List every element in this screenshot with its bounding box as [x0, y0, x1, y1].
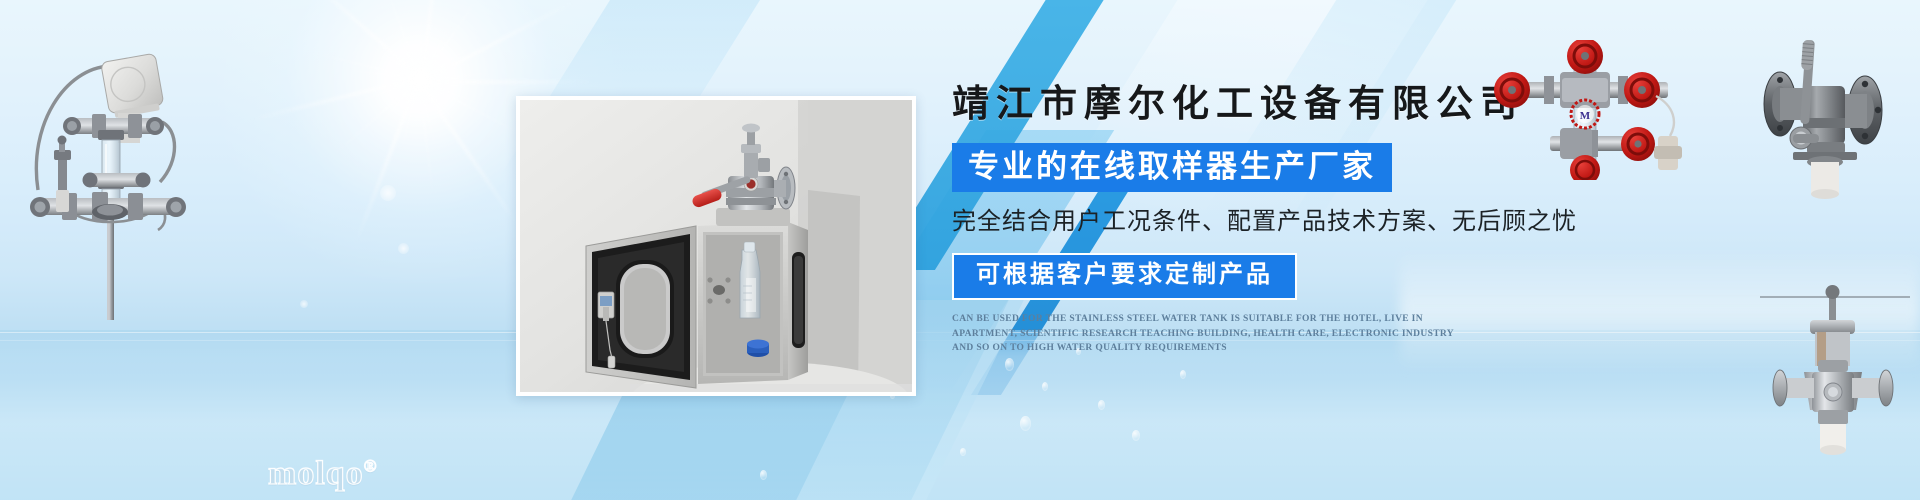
- lens-flare-3: [300, 300, 308, 308]
- handwheel-right: [1624, 72, 1660, 108]
- handwheel-bottom-right: [1621, 127, 1655, 161]
- promotional-banner: 靖江市摩尔化工设备有限公司 专业的在线取样器生产厂家 完全结合用户工况条件、配置…: [0, 0, 1920, 500]
- water-droplet: [1180, 370, 1186, 379]
- right-cross-valve-image: M: [1488, 40, 1688, 180]
- watermark-text: molqo: [268, 455, 364, 492]
- water-droplet: [760, 470, 767, 480]
- center-product-photo: [520, 100, 912, 392]
- sun-ray: [354, 79, 420, 244]
- svg-text:M: M: [1580, 110, 1591, 122]
- water-droplet: [1042, 382, 1048, 391]
- left-product-sampler-image: [10, 30, 210, 320]
- headline-badge: 专业的在线取样器生产厂家: [952, 143, 1392, 193]
- lens-flare-2: [398, 243, 409, 254]
- right-vertical-valve-image: [1760, 280, 1910, 460]
- subline-text: 完全结合用户工况条件、配置产品技术方案、无后顾之忧: [952, 208, 1692, 237]
- water-droplet: [1132, 430, 1140, 441]
- lens-flare-1: [380, 185, 396, 201]
- english-description: CAN BE USED FOR THE STAINLESS STEEL WATE…: [952, 312, 1472, 356]
- water-droplet: [1005, 358, 1014, 371]
- watermark-logo: molqo®: [268, 455, 377, 493]
- sun-ray: [417, 80, 520, 226]
- handwheel-top: [1567, 40, 1603, 74]
- right-lever-valve-image: [1735, 22, 1920, 207]
- cta-badge: 可根据客户要求定制产品: [952, 253, 1297, 300]
- sun-ray: [420, 0, 577, 84]
- registered-mark: ®: [364, 457, 378, 476]
- water-droplet: [960, 448, 966, 456]
- center-product-photo-frame: [516, 96, 916, 396]
- handwheel-left: [1494, 72, 1530, 108]
- water-droplet: [1020, 416, 1031, 431]
- water-droplet: [1098, 400, 1105, 410]
